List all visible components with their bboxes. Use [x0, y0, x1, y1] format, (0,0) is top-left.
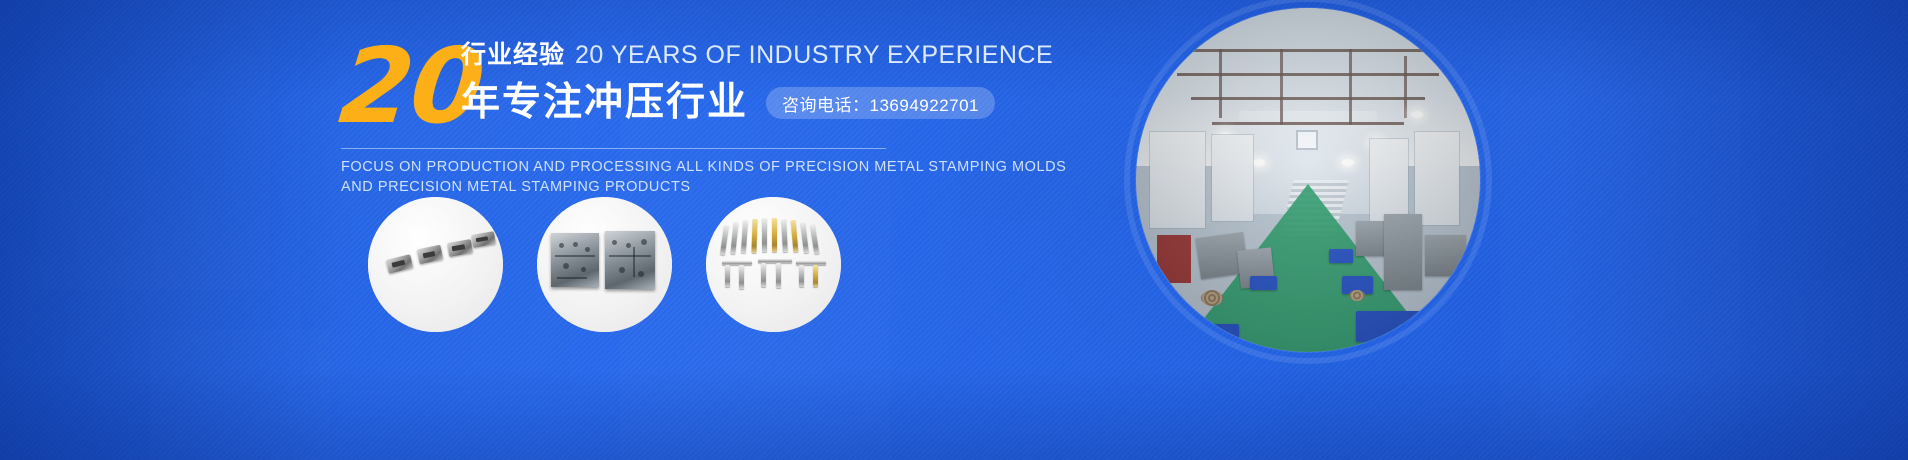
promo-banner: 20 行业经验 20 YEARS OF INDUSTRY EXPERIENCE …: [0, 0, 1908, 460]
photo-shading: [1136, 8, 1480, 352]
terminal-pin: [813, 265, 818, 287]
headline-block: 20 行业经验 20 YEARS OF INDUSTRY EXPERIENCE …: [341, 40, 1101, 197]
experience-label-en: 20 YEARS OF INDUSTRY EXPERIENCE: [575, 40, 1053, 70]
subtitle-line-2: AND PRECISION METAL STAMPING PRODUCTS: [341, 178, 1101, 197]
focus-label-cn: 年专注冲压行业: [461, 80, 748, 126]
subtitle-line-1: FOCUS ON PRODUCTION AND PROCESSING ALL K…: [341, 158, 1101, 177]
terminal-pin: [799, 265, 804, 287]
stamping-die-photo: [537, 197, 672, 332]
experience-label-cn: 行业经验: [461, 40, 565, 70]
terminal-pin: [776, 263, 781, 288]
terminal-pin: [739, 265, 744, 289]
metal-terminals-photo: [706, 197, 841, 332]
headline-divider: [341, 148, 886, 149]
terminal-pin: [725, 265, 730, 287]
usb-connectors-photo: [368, 197, 503, 332]
terminal-pin: [772, 218, 777, 252]
headline-row: 20 行业经验 20 YEARS OF INDUSTRY EXPERIENCE …: [341, 40, 1101, 136]
phone-badge[interactable]: 咨询电话：13694922701: [766, 87, 995, 119]
die-half: [551, 233, 599, 287]
terminal-pin: [761, 263, 766, 287]
headline-text-group: 行业经验 20 YEARS OF INDUSTRY EXPERIENCE 年专注…: [461, 40, 1053, 126]
terminal-pin: [762, 218, 767, 252]
die-half: [605, 231, 655, 289]
headline-line-2: 年专注冲压行业 咨询电话：13694922701: [461, 80, 1053, 126]
headline-line-1: 行业经验 20 YEARS OF INDUSTRY EXPERIENCE: [461, 40, 1053, 74]
factory-workshop-photo: [1136, 8, 1480, 352]
